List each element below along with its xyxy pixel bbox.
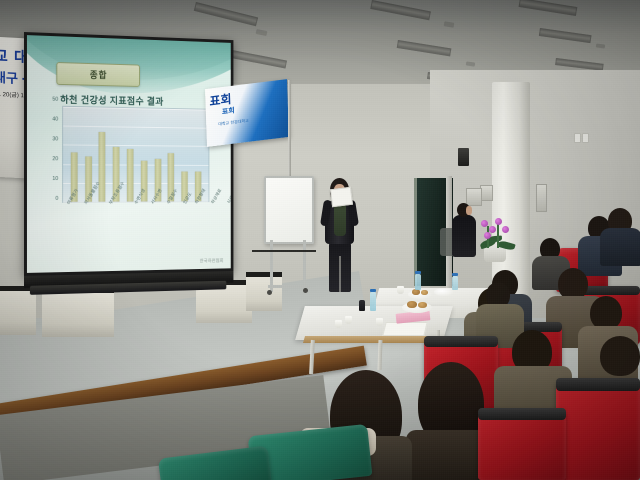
light-switch-icon[interactable] [574, 133, 581, 143]
presenter-script-papers [330, 187, 353, 207]
ceiling-light-icon [194, 2, 258, 26]
bottle-cap [370, 289, 376, 292]
right-banner-line3: 대학교 한경대학교 [218, 118, 249, 128]
presenter-shirt [334, 203, 346, 236]
orchid-flower [481, 220, 488, 227]
audience-torso [600, 228, 640, 266]
soda-can [359, 300, 365, 311]
attendee-coat [452, 215, 476, 257]
front-cabinet [246, 272, 282, 311]
screen-surface: 종합 하천 건강성 지표점수 결과 01020304050 어류평가저서동물점수… [27, 35, 231, 273]
water-bottle [370, 292, 376, 311]
orchid-stem [497, 224, 499, 248]
chart-y-tick: 0 [55, 196, 58, 202]
projection-screen: 종합 하천 건강성 지표점수 결과 01020304050 어류평가저서동물점수… [24, 32, 233, 302]
chart-y-tick: 10 [52, 176, 58, 182]
audience-head [590, 296, 622, 330]
water-bottle [452, 276, 458, 290]
paper-cup [397, 286, 404, 294]
chart-y-tick: 20 [52, 156, 58, 162]
snack-food [418, 302, 427, 308]
ceiling-vent [466, 61, 475, 66]
screen-frame: 종합 하천 건강성 지표점수 결과 01020304050 어류평가저서동물점수… [24, 32, 233, 276]
bottle-cap [415, 271, 421, 274]
seat[interactable] [556, 378, 640, 480]
snack-plate [434, 288, 454, 296]
orchid-flower [495, 218, 502, 225]
slide-section-tab: 종합 [56, 62, 140, 87]
wall-panel [466, 188, 482, 206]
left-banner-line2: 대구 · [0, 67, 26, 88]
water-bottle [415, 274, 421, 290]
presenter-leg-gap [339, 256, 341, 292]
ceiling-light-icon [370, 0, 431, 20]
ceiling-light-icon [555, 58, 603, 71]
ceiling-light-icon [230, 50, 286, 69]
chart-plot-area [62, 106, 209, 203]
ceiling-light-icon [397, 40, 452, 56]
wall-speaker-icon [458, 148, 469, 166]
light-switch-icon[interactable] [582, 133, 589, 143]
snack-food [421, 290, 428, 295]
chart-y-tick: 30 [52, 136, 58, 142]
left-banner-line3: 1. 20(금) 1 [0, 89, 24, 99]
seat-armrest [478, 408, 566, 420]
chart-bars [67, 107, 205, 202]
ceiling-vent [256, 29, 268, 36]
orchid-flower [489, 226, 496, 233]
paper-cup [345, 316, 352, 324]
paper-cup [376, 318, 383, 326]
orchid-pot [484, 246, 506, 262]
orchid-flower [502, 226, 509, 233]
bottle-cap [452, 273, 458, 276]
whiteboard-leg [303, 240, 306, 290]
paper-cup [335, 320, 342, 328]
support-column [492, 82, 530, 297]
ceiling-vent [596, 43, 605, 48]
chart-x-labels: 어류평가저서동물점수부착조류점수수변식생서식수변수질점수인공도하천형태하상재료식… [66, 202, 208, 242]
chart-y-tick: 50 [52, 97, 58, 103]
right-banner: 표회 표회 대학교 한경대학교 [205, 79, 289, 147]
mobile-whiteboard [264, 176, 314, 244]
ceiling-light-icon [539, 28, 592, 43]
wall-panel [536, 184, 547, 212]
photo-scene: 교 대 대구 · 1. 20(금) 1 종합 하천 건강성 지표점수 결과 01… [0, 0, 640, 480]
whiteboard-rail [252, 250, 316, 252]
ceiling-vent [444, 21, 455, 28]
right-banner-line2: 표회 [222, 106, 235, 118]
snack-food [407, 301, 417, 308]
projected-slide: 종합 하천 건강성 지표점수 결과 01020304050 어류평가저서동물점수… [27, 35, 231, 273]
whiteboard-wheel [267, 290, 272, 295]
ceiling-light-icon [519, 0, 578, 16]
audience-head [600, 336, 640, 376]
chart-y-axis: 01020304050 [41, 99, 60, 199]
chart-y-tick: 40 [52, 116, 58, 122]
whiteboard-wheel [303, 288, 308, 293]
documents [382, 322, 427, 336]
seat-armrest [556, 378, 640, 391]
attendee-face [466, 206, 472, 215]
slide-logo: 한국하천협회 [200, 258, 224, 264]
seat-armrest [424, 336, 498, 347]
orchid-flower [484, 232, 491, 239]
